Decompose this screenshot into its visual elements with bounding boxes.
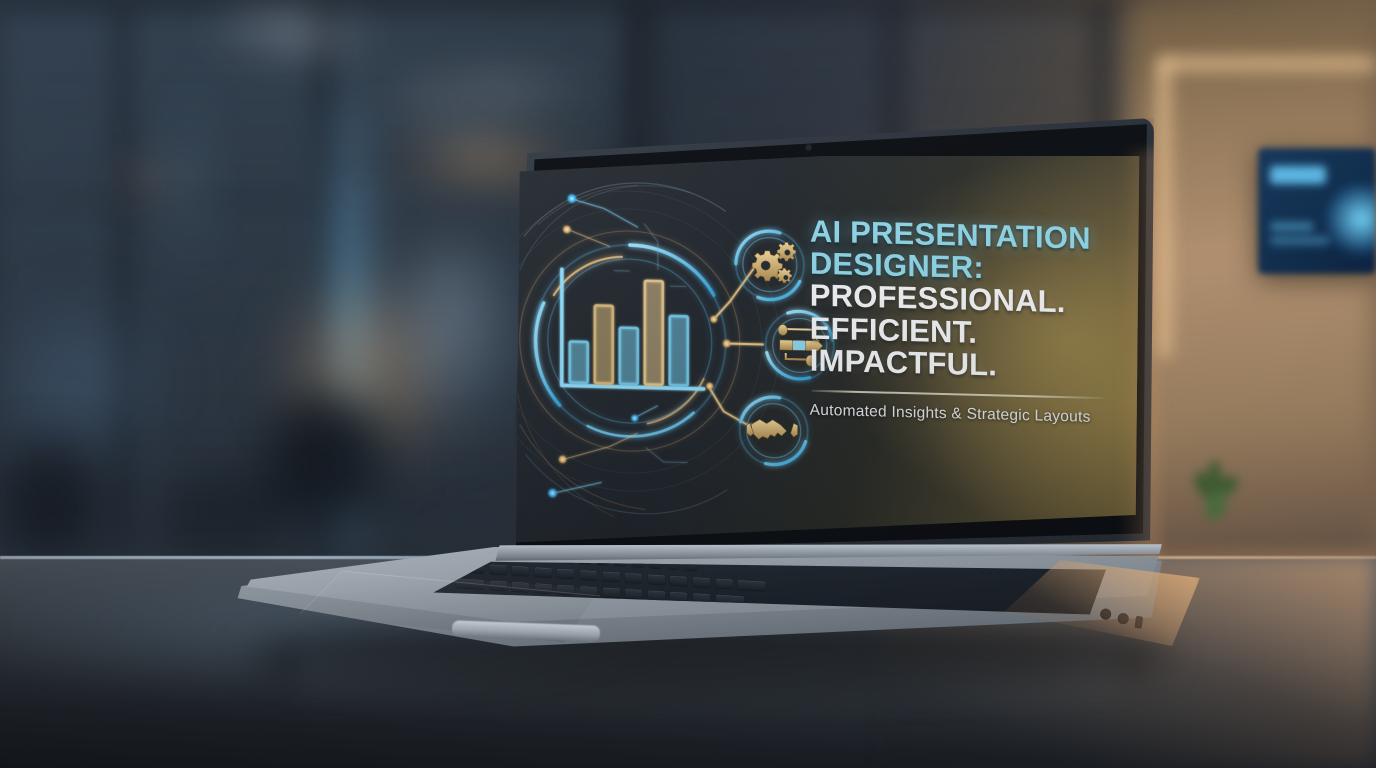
bar-4 xyxy=(645,281,663,385)
key[interactable] xyxy=(648,574,665,584)
webcam-icon xyxy=(806,145,811,150)
key[interactable] xyxy=(625,573,642,583)
bar-chart-icon xyxy=(562,269,704,389)
bar-3 xyxy=(620,328,638,385)
bar-5 xyxy=(670,316,688,386)
key[interactable] xyxy=(715,579,732,589)
bar-1 xyxy=(570,341,588,382)
presentation-slide: AI PRESENTATION DESIGNER: PROFESSIONAL. … xyxy=(516,156,1142,544)
slide-subtitle: Automated Insights & Strategic Layouts xyxy=(810,401,1140,427)
key[interactable] xyxy=(670,576,687,586)
ai-network-infographic xyxy=(518,162,808,529)
slide-text-block: AI PRESENTATION DESIGNER: PROFESSIONAL. … xyxy=(810,216,1140,428)
lid-warm-rim-light xyxy=(1120,150,1160,562)
key[interactable] xyxy=(625,589,642,599)
bar-2 xyxy=(595,305,613,383)
laptop: AI PRESENTATION DESIGNER: PROFESSIONAL. … xyxy=(0,0,1376,768)
key[interactable] xyxy=(603,588,620,598)
title-divider xyxy=(812,390,1104,399)
scene-root: AI PRESENTATION DESIGNER: PROFESSIONAL. … xyxy=(0,0,1376,768)
key[interactable] xyxy=(693,577,710,587)
key[interactable] xyxy=(738,580,766,591)
handshake-node xyxy=(740,396,808,466)
key[interactable] xyxy=(648,590,665,600)
key[interactable] xyxy=(602,572,619,582)
laptop-screen[interactable]: AI PRESENTATION DESIGNER: PROFESSIONAL. … xyxy=(516,156,1142,544)
